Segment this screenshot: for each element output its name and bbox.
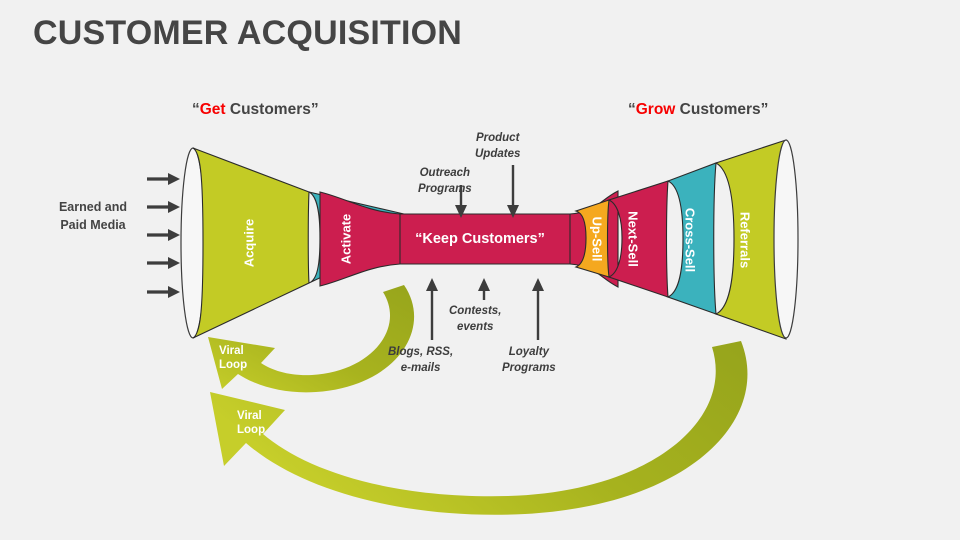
annotation-blogs-line2: e-mails — [388, 360, 453, 376]
inflow-label: Earned and Paid Media — [45, 198, 141, 234]
annotation-outreach-line1: Outreach — [418, 165, 472, 181]
segment-label-activate: Activate — [339, 214, 354, 265]
annotation-loyalty-line2: Programs — [502, 360, 556, 376]
annotation-contests-line2: events — [449, 319, 501, 335]
phase-grow-highlight: Grow — [636, 101, 676, 118]
phase-get-highlight: Get — [200, 101, 226, 118]
viral-loop-inner-line2: Loop — [219, 358, 247, 372]
inflow-label-line1: Earned and — [45, 198, 141, 216]
viral-loop-outer-line1: Viral — [237, 409, 265, 423]
segment-label-cross-sell: Cross-Sell — [683, 208, 698, 272]
annotation-contests-line1: Contests, — [449, 303, 501, 319]
phase-get-quote-open: “ — [192, 101, 200, 118]
phase-grow-rest: Customers” — [675, 101, 768, 118]
annotation-blogs-line1: Blogs, RSS, — [388, 344, 453, 360]
annotation-loyalty-line1: Loyalty — [502, 344, 556, 360]
phase-get-rest: Customers” — [226, 101, 319, 118]
segment-label-up-sell: Up-Sell — [590, 217, 605, 262]
viral-loop-outer-arrow — [210, 341, 747, 515]
annotation-product-updates: Product Updates — [475, 130, 520, 163]
funnel-graphic — [0, 0, 960, 540]
phase-label-grow: “Grow Customers” — [628, 101, 768, 119]
viral-loop-inner-line1: Viral — [219, 344, 247, 358]
inflow-arrows — [147, 173, 180, 298]
neck-label-keep-customers: “Keep Customers” — [415, 231, 545, 247]
annotation-contests-events: Contests, events — [449, 303, 501, 336]
phase-grow-quote-open: “ — [628, 101, 636, 118]
annotation-outreach-programs: Outreach Programs — [418, 165, 472, 198]
annotation-blogs-rss-emails: Blogs, RSS, e-mails — [388, 344, 453, 377]
inflow-label-line2: Paid Media — [45, 216, 141, 234]
segment-label-referrals: Referrals — [738, 212, 753, 268]
segment-label-next-sell: Next-Sell — [626, 211, 641, 267]
annotation-outreach-line2: Programs — [418, 181, 472, 197]
phase-label-get: “Get Customers” — [192, 101, 319, 119]
viral-loop-outer-line2: Loop — [237, 423, 265, 437]
annotation-loyalty-programs: Loyalty Programs — [502, 344, 556, 377]
annotation-product-line2: Updates — [475, 146, 520, 162]
slide-canvas: CUSTOMER ACQUISITION — [0, 0, 960, 540]
annotation-product-line1: Product — [475, 130, 520, 146]
segment-label-acquire: Acquire — [242, 219, 257, 267]
viral-loop-outer-label: Viral Loop — [237, 409, 265, 438]
viral-loop-inner-label: Viral Loop — [219, 344, 247, 373]
